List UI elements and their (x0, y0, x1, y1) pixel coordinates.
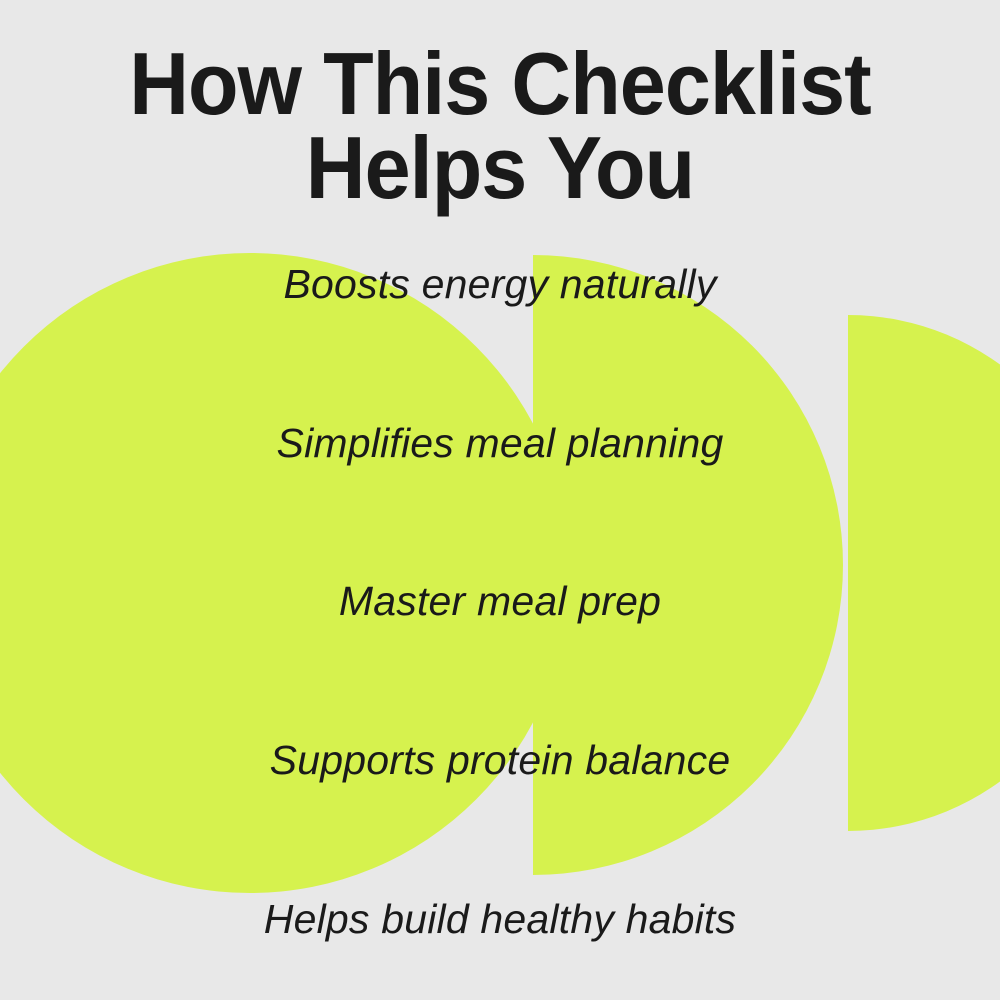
page-title: How This Checklist Helps You (30, 42, 970, 211)
list-item: Supports protein balance (0, 738, 1000, 783)
content-layer: How This Checklist Helps You Boosts ener… (0, 0, 1000, 1000)
poster-canvas: How This Checklist Helps You Boosts ener… (0, 0, 1000, 1000)
list-item: Helps build healthy habits (0, 897, 1000, 942)
benefit-list: Boosts energy naturally Simplifies meal … (0, 262, 1000, 942)
list-item: Master meal prep (0, 579, 1000, 624)
list-item: Boosts energy naturally (0, 262, 1000, 307)
list-item: Simplifies meal planning (0, 421, 1000, 466)
